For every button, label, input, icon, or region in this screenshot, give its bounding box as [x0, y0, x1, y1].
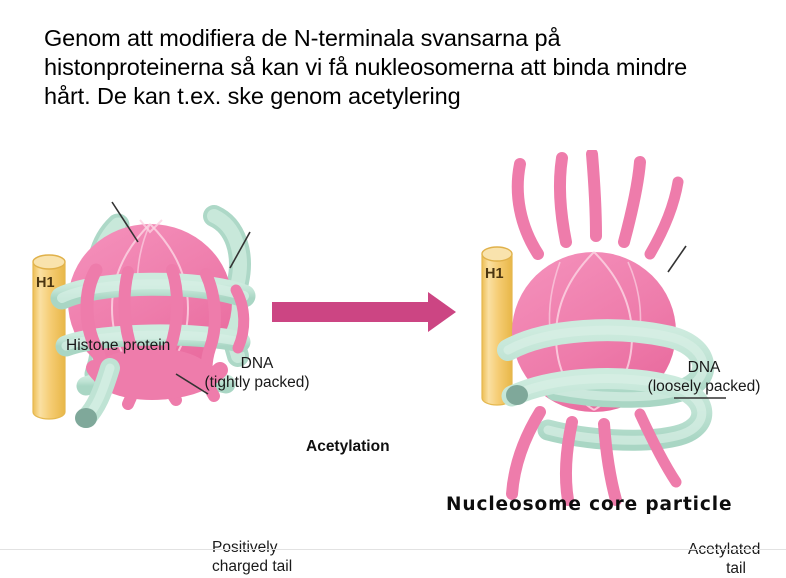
label-acetylation: Acetylation: [306, 438, 390, 456]
label-dna-loose-line1: DNA: [630, 358, 778, 377]
acetylation-arrow-graphic: [272, 292, 456, 332]
slide-canvas: Genom att modifiera de N-terminala svans…: [0, 0, 786, 564]
label-h1-left: H1: [36, 275, 55, 291]
label-dna-tight-line1: DNA: [182, 354, 332, 373]
right-nucleosome-group: [482, 154, 726, 500]
label-positive-tail-line1: Positively: [212, 538, 342, 557]
label-histone-protein: Histone protein: [66, 336, 170, 355]
right-histone-tails-upper: [518, 154, 678, 254]
title-line-1: Genom att modifiera de N-terminala svans…: [44, 24, 756, 53]
label-acetylated-tail-line2: tail: [688, 559, 784, 578]
caption-nucleosome-core-particle: Nucleosome core particle: [446, 494, 732, 515]
left-nucleosome-group: [33, 202, 250, 428]
label-positively-charged-tail: Positively charged tail: [212, 538, 342, 576]
title-line-3: hårt. De kan t.ex. ske genom acetylering: [44, 82, 756, 111]
label-dna-tightly-packed: DNA (tightly packed): [182, 354, 332, 392]
right-dna-end-cap: [506, 385, 528, 405]
label-dna-tight-line2: (tightly packed): [182, 373, 332, 392]
label-positive-tail-line2: charged tail: [212, 557, 342, 576]
title-line-2: histonproteinerna så kan vi få nukleosom…: [44, 53, 756, 82]
page-title: Genom att modifiera de N-terminala svans…: [44, 24, 756, 111]
label-dna-loose-line2: (loosely packed): [630, 377, 778, 396]
nucleosome-acetylation-figure: Histone protein DNA (tightly packed) Pos…: [0, 150, 786, 550]
label-h1-right: H1: [485, 266, 504, 282]
label-dna-loosely-packed: DNA (loosely packed): [630, 358, 778, 396]
bottom-divider: [0, 549, 786, 550]
right-histone-tails-lower: [512, 412, 676, 500]
label-acetylated-tail: Acetylated tail: [688, 540, 784, 578]
